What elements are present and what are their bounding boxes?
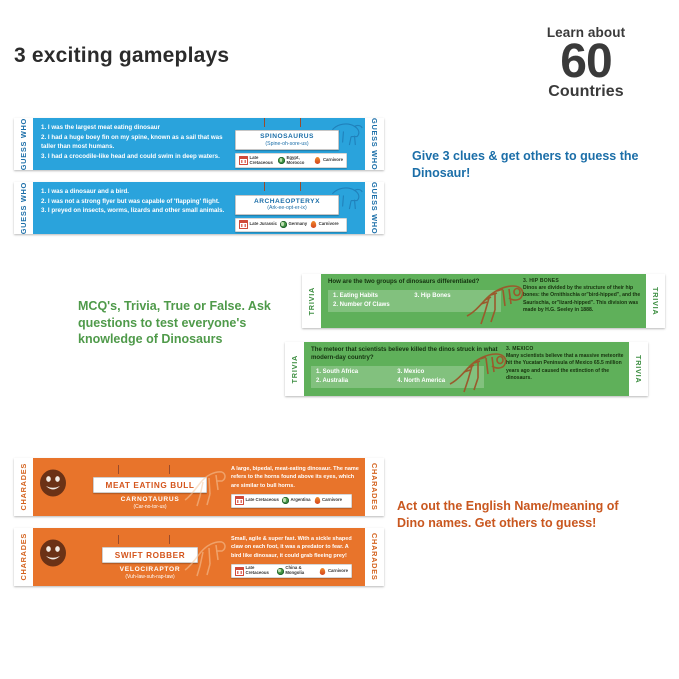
charades-name-panel: MEAT EATING BULL CARNOTAURUS (Car-no-tor… xyxy=(33,458,229,516)
page-title: 3 exciting gameplays xyxy=(14,44,229,68)
globe-icon xyxy=(277,568,284,575)
trivia-card-body: How are the two groups of dinosaurs diff… xyxy=(321,274,646,328)
charades-info-panel: Small, agile & super fast. With a sickle… xyxy=(229,528,365,586)
clue-1: 1. I was the largest meat eating dinosau… xyxy=(41,123,227,133)
guess-who-tab-right: GUESS WHO xyxy=(365,182,384,234)
dinosaur-name-plate: SPINOSAURUS (Spine-oh-sore-us) xyxy=(235,130,339,150)
guess-who-tab-label-right: GUESS WHO xyxy=(370,182,379,234)
trivia-option-2[interactable]: 2. Number Of Claws xyxy=(333,302,414,308)
diet-info: Carnivore xyxy=(314,497,343,504)
guess-who-answer-panel: ARCHAEOPTERYX (Ark-ee-opt-er-ix) Late Ju… xyxy=(233,182,365,234)
dinosaur-meta-row: Late Cretaceous China & Mongolia Carnivo… xyxy=(231,564,352,579)
charades-tab-label: CHARADES xyxy=(19,463,28,510)
charades-tab-right: CHARADES xyxy=(365,458,384,516)
trivia-card-1[interactable]: TRIVIA How are the two groups of dinosau… xyxy=(302,274,665,328)
countries-label: Countries xyxy=(511,84,661,100)
period-info: Late Cretaceous xyxy=(235,496,279,505)
flame-icon xyxy=(320,568,325,575)
dinosaur-name: ARCHAEOPTERYX xyxy=(238,198,336,205)
globe-icon xyxy=(282,497,289,504)
dinosaur-icon xyxy=(183,532,227,578)
trivia-answer-text: Many scientists believe that a massive m… xyxy=(506,353,624,384)
calendar-icon xyxy=(235,496,244,505)
learn-about-badge: Learn about 60 Countries xyxy=(511,26,661,100)
guess-who-tab-label-right: GUESS WHO xyxy=(370,118,379,170)
trivia-tab-right: TRIVIA xyxy=(646,274,665,328)
country-count: 60 xyxy=(511,38,661,86)
dinosaur-skeleton-icon xyxy=(465,274,527,328)
trivia-question-panel: How are the two groups of dinosaurs diff… xyxy=(321,274,521,328)
clue-3: 3. I preyed on insects, worms, lizards a… xyxy=(41,206,227,216)
guess-who-card-1[interactable]: GUESS WHO 1. I was the largest meat eati… xyxy=(14,118,384,170)
trivia-answer-title: 3. HIP BONES xyxy=(523,278,641,284)
region-label: Germany xyxy=(288,222,307,227)
hanging-wires xyxy=(259,118,325,127)
theatre-masks-icon xyxy=(38,537,74,567)
guess-who-tab-left: GUESS WHO xyxy=(14,118,33,170)
clue-2: 2. I was not a strong flyer but was capa… xyxy=(41,197,227,207)
dinosaur-name: SPINOSAURUS xyxy=(238,133,336,140)
period-label: Late Cretaceous xyxy=(246,498,279,503)
calendar-icon xyxy=(235,567,244,576)
globe-icon xyxy=(280,221,287,228)
trivia-tab-label: TRIVIA xyxy=(290,355,299,383)
dinosaur-meta-row: Late Cretaceous Egypt, Morocco Carnivore xyxy=(235,153,347,168)
charades-info-panel: A large, bipedal, meat-eating dinosaur. … xyxy=(229,458,365,516)
guess-who-tab-right: GUESS WHO xyxy=(365,118,384,170)
guess-who-description: Give 3 clues & get others to guess the D… xyxy=(412,148,652,181)
guess-who-tab-label: GUESS WHO xyxy=(19,118,28,170)
region-label: China & Mongolia xyxy=(285,566,316,576)
region-info: Egypt, Morocco xyxy=(278,156,311,166)
trivia-tab-label-right: TRIVIA xyxy=(634,355,643,383)
period-label: Late Cretaceous xyxy=(250,156,276,166)
trivia-tab-right: TRIVIA xyxy=(629,342,648,396)
hanging-wires xyxy=(259,182,325,191)
region-info: Germany xyxy=(280,221,307,228)
clue-2: 2. I had a huge boey fin on my spine, kn… xyxy=(41,133,227,152)
guess-who-clues: 1. I was the largest meat eating dinosau… xyxy=(33,118,233,170)
charades-card-1[interactable]: CHARADES MEAT EATING BULL CARNOTAURUS (C… xyxy=(14,458,384,516)
diet-label: Carnivore xyxy=(323,158,343,163)
charades-tab-label: CHARADES xyxy=(19,533,28,580)
region-label: Argentina xyxy=(290,498,310,503)
diet-label: Carnivore xyxy=(322,498,342,503)
region-info: Argentina xyxy=(282,497,311,504)
guess-who-card-body: 1. I was a dinosaur and a bird. 2. I was… xyxy=(33,182,365,234)
clue-1: 1. I was a dinosaur and a bird. xyxy=(41,187,227,197)
guess-who-answer-panel: SPINOSAURUS (Spine-oh-sore-us) Late Cret… xyxy=(233,118,365,170)
diet-label: Carnivore xyxy=(319,222,339,227)
period-label: Late Jurassic xyxy=(250,222,277,227)
dinosaur-description: Small, agile & super fast. With a sickle… xyxy=(231,535,360,560)
trivia-answer-title: 3. MEXICO xyxy=(506,346,624,352)
flame-icon xyxy=(315,157,320,164)
period-label: Late Cretaceous xyxy=(246,566,274,576)
trivia-question-panel: The meteor that scientists believe kille… xyxy=(304,342,504,396)
flame-icon xyxy=(314,497,319,504)
dinosaur-meta-row: Late Jurassic Germany Carnivore xyxy=(235,218,347,232)
guess-who-tab-left: GUESS WHO xyxy=(14,182,33,234)
period-info: Late Jurassic xyxy=(239,220,277,229)
dinosaur-icon xyxy=(183,462,227,508)
trivia-card-body: The meteor that scientists believe kille… xyxy=(304,342,629,396)
region-info: China & Mongolia xyxy=(277,566,317,576)
diet-info: Carnivore xyxy=(314,157,343,164)
charades-name-panel: SWIFT ROBBER VELOCIRAPTOR (Vuh-law-suh-r… xyxy=(33,528,229,586)
dinosaur-name-plate: ARCHAEOPTERYX (Ark-ee-opt-er-ix) xyxy=(235,195,339,215)
charades-card-body: MEAT EATING BULL CARNOTAURUS (Car-no-tor… xyxy=(33,458,365,516)
charades-tab-left: CHARADES xyxy=(14,458,33,516)
trivia-answer-panel: 3. MEXICO Many scientists believe that a… xyxy=(504,342,629,396)
guess-who-card-body: 1. I was the largest meat eating dinosau… xyxy=(33,118,365,170)
trivia-answer-text: Dinos are divided by the structure of th… xyxy=(523,285,641,316)
period-info: Late Cretaceous xyxy=(239,156,275,166)
charades-description: Act out the English Name/meaning of Dino… xyxy=(397,498,637,531)
charades-tab-left: CHARADES xyxy=(14,528,33,586)
flame-icon xyxy=(311,221,316,228)
dinosaur-pronunciation: (Ark-ee-opt-er-ix) xyxy=(238,205,336,211)
poster-canvas: 3 exciting gameplays Learn about 60 Coun… xyxy=(0,0,679,679)
region-label: Egypt, Morocco xyxy=(287,156,312,166)
diet-info: Carnivore xyxy=(310,221,339,228)
trivia-tab-label-right: TRIVIA xyxy=(651,287,660,315)
trivia-card-2[interactable]: TRIVIA The meteor that scientists believ… xyxy=(285,342,648,396)
charades-card-body: SWIFT ROBBER VELOCIRAPTOR (Vuh-law-suh-r… xyxy=(33,528,365,586)
trivia-option-2[interactable]: 2. Australia xyxy=(316,378,397,384)
trivia-tab-label: TRIVIA xyxy=(307,287,316,315)
period-info: Late Cretaceous xyxy=(235,566,274,576)
calendar-icon xyxy=(239,220,248,229)
globe-icon xyxy=(278,157,285,164)
charades-card-2[interactable]: CHARADES SWIFT ROBBER VELOCIRAPTOR (Vuh-… xyxy=(14,528,384,586)
dinosaur-meta-row: Late Cretaceous Argentina Carnivore xyxy=(231,494,352,508)
trivia-answer-panel: 3. HIP BONES Dinos are divided by the st… xyxy=(521,274,646,328)
guess-who-tab-label: GUESS WHO xyxy=(19,182,28,234)
diet-info: Carnivore xyxy=(319,568,348,575)
dinosaur-pronunciation: (Spine-oh-sore-us) xyxy=(238,141,336,147)
clue-3: 3. I had a crocodile-like head and could… xyxy=(41,152,227,162)
charades-tab-label-right: CHARADES xyxy=(370,533,379,580)
dinosaur-skeleton-icon xyxy=(448,342,510,396)
trivia-option-1[interactable]: 1. Eating Habits xyxy=(333,293,414,299)
theatre-masks-icon xyxy=(38,467,74,497)
diet-label: Carnivore xyxy=(328,569,348,574)
dinosaur-description: A large, bipedal, meat-eating dinosaur. … xyxy=(231,465,360,490)
trivia-option-1[interactable]: 1. South Africa xyxy=(316,369,397,375)
charades-tab-right: CHARADES xyxy=(365,528,384,586)
trivia-tab-left: TRIVIA xyxy=(285,342,304,396)
calendar-icon xyxy=(239,156,248,165)
guess-who-card-2[interactable]: GUESS WHO 1. I was a dinosaur and a bird… xyxy=(14,182,384,234)
trivia-description: MCQ's, Trivia, True or False. Ask questi… xyxy=(78,298,308,348)
charades-tab-label-right: CHARADES xyxy=(370,463,379,510)
guess-who-clues: 1. I was a dinosaur and a bird. 2. I was… xyxy=(33,182,233,234)
